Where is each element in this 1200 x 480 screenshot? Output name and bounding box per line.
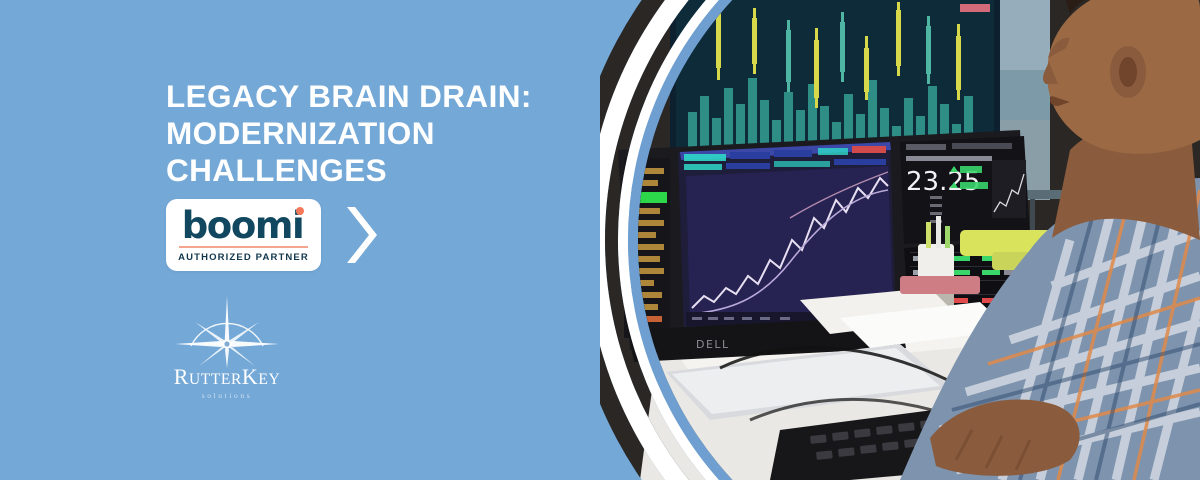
hero-photo-circle [600, 0, 1200, 480]
rutterkey-r: R [174, 364, 189, 389]
boomi-wordmark: boomi [182, 208, 306, 243]
rutterkey-tagline: solutions [202, 391, 253, 400]
rutterkey-k: K [242, 364, 259, 389]
rutterkey-logo: RUTTERKEY solutions [168, 296, 286, 400]
rutterkey-utter: UTTER [189, 371, 242, 388]
chevron-right-icon[interactable] [341, 207, 381, 263]
rutterkey-ey: EY [258, 371, 280, 388]
hero-photo-artwork: 23.25 [600, 0, 1200, 480]
boomi-authorized-partner-badge: boomi AUTHORIZED PARTNER [166, 199, 321, 271]
headline-block: LEGACY BRAIN DRAIN: MODERNIZATION CHALLE… [166, 78, 586, 189]
badge-row: boomi AUTHORIZED PARTNER [166, 199, 381, 271]
authorized-partner-label: AUTHORIZED PARTNER [178, 252, 309, 263]
rutterkey-wordmark: RUTTERKEY [174, 366, 281, 388]
banner-root: 23.25 [0, 0, 1200, 480]
compass-rose-icon [175, 296, 279, 368]
boomi-wordmark-text: boomi [182, 204, 304, 247]
page-title: LEGACY BRAIN DRAIN: MODERNIZATION CHALLE… [166, 78, 586, 189]
